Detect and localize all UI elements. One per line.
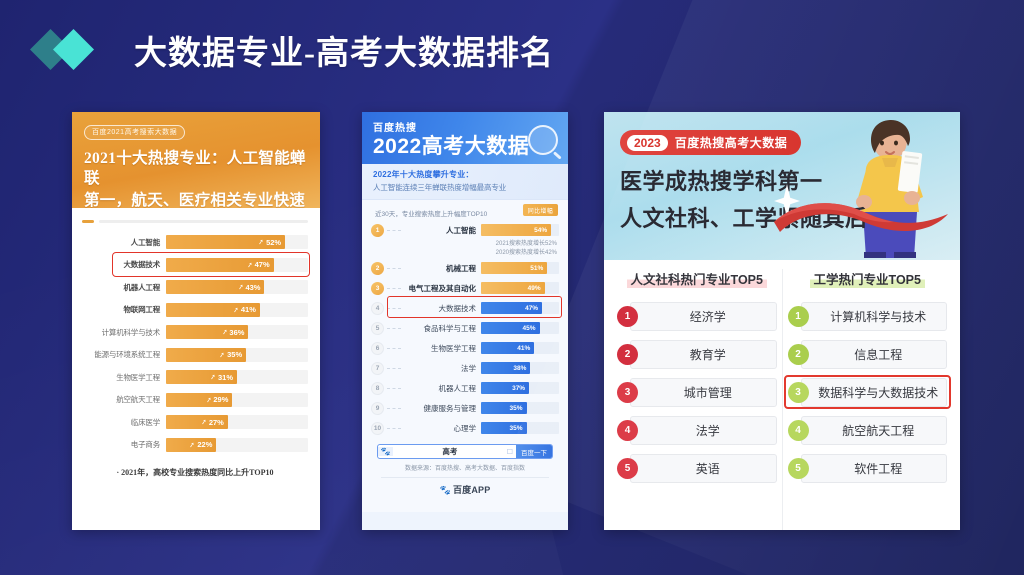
- bar-value: 37%: [512, 385, 525, 392]
- card3-column-humanities: 人文社科热门专业TOP5 1经济学2教育学3城市管理4法学5英语: [612, 269, 782, 530]
- bar-fill: ➚41%: [166, 303, 260, 317]
- bar-track: ➚22%: [166, 438, 308, 452]
- list-item[interactable]: 2信息工程: [788, 335, 948, 373]
- item-label: 机械工程: [404, 263, 481, 274]
- rank-badge: 2: [617, 344, 638, 365]
- card3-column-engineering-header: 工学热门专业TOP5: [810, 269, 925, 288]
- card2-source-note: 数据来源：百度热搜、高考大数据、百度指数: [371, 463, 559, 472]
- bar-value: 47%: [255, 260, 270, 269]
- card-baidu-2021[interactable]: 百度2021高考搜索大数据 2021十大热搜专业：人工智能蝉联 第一，航天、医疗…: [72, 112, 320, 530]
- card3-header: 2023 百度热搜高考大数据 医学成热搜学科第一 人文社科、工学紧随其后: [604, 112, 960, 260]
- item-label: 人工智能: [404, 225, 481, 236]
- bar-track: 41%: [481, 342, 559, 354]
- bar-label: 航空航天工程: [82, 394, 166, 405]
- card1-bar-list: 人工智能➚52%大数据技术➚47%机器人工程➚43%物联网工程➚41%计算机科学…: [82, 231, 308, 456]
- major-name[interactable]: 信息工程: [801, 340, 948, 369]
- rank-badge: 1: [617, 306, 638, 327]
- bar-fill: 35%: [481, 422, 527, 434]
- card2-chart-body: 近30天，专业搜索热度上升幅度TOP10 同比增幅 1人工智能54%2021搜索…: [362, 200, 568, 512]
- card2-subtitle-b: 人工智能连续三年蝉联热度增幅最高专业: [373, 182, 557, 193]
- card3-column-engineering: 工学热门专业TOP5 1计算机科学与技术2信息工程3数据科学与大数据技术4航空航…: [782, 269, 953, 530]
- rank-badge: 4: [788, 420, 809, 441]
- card3-engineering-list: 1计算机科学与技术2信息工程3数据科学与大数据技术4航空航天工程5软件工程: [788, 297, 948, 487]
- table-row: 航空航天工程➚29%: [82, 389, 308, 412]
- rank-badge: 2: [371, 262, 384, 275]
- bar-fill: ➚29%: [166, 393, 232, 407]
- bar-value: 52%: [266, 238, 281, 247]
- bar-track: 35%: [481, 422, 559, 434]
- bar-value: 22%: [197, 440, 212, 449]
- card2-search-box[interactable]: 🐾 高考 ☐ 百度一下: [377, 444, 553, 459]
- bar-track: ➚52%: [166, 235, 308, 249]
- rank-badge: 1: [371, 224, 384, 237]
- rank-badge: 5: [788, 458, 809, 479]
- card1-title-line1: 2021十大热搜专业：人工智能蝉联: [84, 149, 310, 189]
- dotted-leader: [387, 348, 401, 349]
- bar-label: 生物医学工程: [82, 372, 166, 383]
- bar-track: 45%: [481, 322, 559, 334]
- bar-value: 41%: [241, 305, 256, 314]
- bar-fill: 37%: [481, 382, 529, 394]
- bar-track: ➚36%: [166, 325, 308, 339]
- bar-track: 54%: [481, 224, 559, 236]
- bar-value: 35%: [509, 405, 522, 412]
- bar-value: 36%: [229, 328, 244, 337]
- list-item[interactable]: 1经济学: [617, 297, 777, 335]
- dotted-leader: [387, 230, 401, 231]
- card1-badge: 百度2021高考搜索大数据: [84, 125, 185, 140]
- trend-up-icon: ➚: [246, 260, 253, 269]
- bar-track: 38%: [481, 362, 559, 374]
- card2-app-text: 百度APP: [453, 485, 491, 495]
- table-row: 物联网工程➚41%: [82, 299, 308, 322]
- item-label: 生物医学工程: [404, 343, 481, 354]
- bar-label: 能源与环境系统工程: [82, 349, 166, 360]
- bar-track: 37%: [481, 382, 559, 394]
- bar-value: 41%: [517, 345, 530, 352]
- bar-track: ➚43%: [166, 280, 308, 294]
- rank-badge: 4: [617, 420, 638, 441]
- baidu-paw-icon-footer: 🐾: [440, 485, 451, 495]
- bar-fill: ➚35%: [166, 348, 246, 362]
- bar-fill: ➚36%: [166, 325, 248, 339]
- bar-value: 35%: [227, 350, 242, 359]
- trend-up-icon: ➚: [189, 440, 196, 449]
- dotted-leader: [387, 308, 401, 309]
- item-label: 法学: [404, 363, 481, 374]
- bar-track: ➚31%: [166, 370, 308, 384]
- bar-fill: 49%: [481, 282, 545, 294]
- card3-badge-text: 百度热搜高考大数据: [675, 134, 788, 151]
- slide-canvas: 大数据专业-高考大数据排名 百度2021高考搜索大数据 2021十大热搜专业：人…: [0, 0, 1024, 575]
- bar-label: 人工智能: [82, 237, 166, 248]
- bar-label: 物联网工程: [82, 304, 166, 315]
- bar-fill: ➚47%: [166, 258, 274, 272]
- rank-badge: 1: [788, 306, 809, 327]
- bar-track: 35%: [481, 402, 559, 414]
- item-label: 心理学: [404, 423, 481, 434]
- dotted-leader: [387, 288, 401, 289]
- bar-label: 临床医学: [82, 417, 166, 428]
- trend-up-icon: ➚: [232, 305, 239, 314]
- dotted-leader: [387, 268, 401, 269]
- list-item: 6生物医学工程41%: [371, 338, 559, 358]
- bar-label: 电子商务: [82, 439, 166, 450]
- bar-label: 计算机科学与技术: [82, 327, 166, 338]
- bar-track: ➚41%: [166, 303, 308, 317]
- trend-up-icon: ➚: [205, 395, 212, 404]
- list-item[interactable]: 1计算机科学与技术: [788, 297, 948, 335]
- card-baidu-2022[interactable]: 百度热搜 2022高考大数据 2022年十大热度攀升专业： 人工智能连续三年蝉联…: [362, 112, 568, 530]
- list-item: 5食品科学与工程45%: [371, 318, 559, 338]
- item-label: 大数据技术: [404, 303, 481, 314]
- bar-value: 45%: [522, 325, 535, 332]
- bar-fill: 54%: [481, 224, 551, 236]
- annotation-note: 2021搜索热度增长52%: [371, 240, 559, 249]
- card2-rank-list: 1人工智能54%2021搜索热度增长52%2020搜索热度增长42%2机械工程5…: [371, 220, 559, 438]
- list-item: 8机器人工程37%: [371, 378, 559, 398]
- bar-label: 机器人工程: [82, 282, 166, 293]
- table-row: 电子商务➚22%: [82, 434, 308, 457]
- item-label: 健康服务与管理: [404, 403, 481, 414]
- bar-value: 38%: [513, 365, 526, 372]
- table-row: 临床医学➚27%: [82, 411, 308, 434]
- bar-value: 47%: [525, 305, 538, 312]
- list-item: 3电气工程及其自动化49%: [371, 278, 559, 298]
- bar-value: 51%: [530, 265, 543, 272]
- list-item: 9健康服务与管理35%: [371, 398, 559, 418]
- card3-badge-year: 2023: [627, 135, 668, 151]
- camera-icon[interactable]: ☐: [507, 448, 516, 456]
- dotted-leader: [387, 428, 401, 429]
- magnifier-icon: [528, 125, 558, 155]
- rank-badge: 3: [788, 382, 809, 403]
- major-name[interactable]: 计算机科学与技术: [801, 302, 948, 331]
- card-baidu-2023[interactable]: 2023 百度热搜高考大数据 医学成热搜学科第一 人文社科、工学紧随其后: [604, 112, 960, 530]
- trend-up-icon: ➚: [218, 350, 225, 359]
- table-row: 机器人工程➚43%: [82, 276, 308, 299]
- major-name[interactable]: 英语: [630, 454, 777, 483]
- list-item: 7法学38%: [371, 358, 559, 378]
- trend-up-icon: ➚: [221, 328, 228, 337]
- bar-value: 29%: [213, 395, 228, 404]
- major-name[interactable]: 软件工程: [801, 454, 948, 483]
- list-item: 1人工智能54%: [371, 220, 559, 240]
- list-item: 10心理学35%: [371, 418, 559, 438]
- rank-badge: 5: [371, 322, 384, 335]
- card2-app-label: 🐾百度APP: [371, 483, 559, 496]
- card2-legend-tag: 同比增幅: [523, 204, 558, 216]
- dotted-leader: [387, 328, 401, 329]
- rank-badge: 8: [371, 382, 384, 395]
- annotation-note: 2020搜索热度增长42%: [371, 249, 559, 258]
- table-row: 能源与环境系统工程➚35%: [82, 344, 308, 367]
- rank-badge: 4: [371, 302, 384, 315]
- list-item: 4大数据技术47%: [371, 298, 559, 318]
- table-row: 生物医学工程➚31%: [82, 366, 308, 389]
- card2-header: 百度热搜 2022高考大数据: [362, 112, 568, 164]
- bar-track: ➚35%: [166, 348, 308, 362]
- cards-container: 百度2021高考搜索大数据 2021十大热搜专业：人工智能蝉联 第一，航天、医疗…: [0, 112, 1024, 532]
- card1-chart-body: 人工智能➚52%大数据技术➚47%机器人工程➚43%物联网工程➚41%计算机科学…: [72, 208, 320, 530]
- bar-fill: ➚31%: [166, 370, 237, 384]
- card3-badge: 2023 百度热搜高考大数据: [620, 130, 801, 155]
- rank-badge: 7: [371, 362, 384, 375]
- dotted-leader: [387, 408, 401, 409]
- diamond-light-icon: [53, 29, 94, 70]
- trend-up-icon: ➚: [200, 418, 207, 427]
- bar-track: ➚29%: [166, 393, 308, 407]
- table-row: 人工智能➚52%: [82, 231, 308, 254]
- item-label: 电气工程及其自动化: [404, 283, 481, 294]
- bar-fill: ➚43%: [166, 280, 264, 294]
- card2-subtitle-a: 2022年十大热度攀升专业：: [373, 169, 557, 180]
- table-row: 大数据技术➚47%: [82, 254, 308, 277]
- major-name[interactable]: 城市管理: [630, 378, 777, 407]
- bar-fill: 38%: [481, 362, 530, 374]
- bar-fill: 35%: [481, 402, 527, 414]
- card3-column-humanities-header: 人文社科热门专业TOP5: [627, 269, 767, 288]
- rank-badge: 5: [617, 458, 638, 479]
- card1-footer-note: · 2021年，高校专业搜索热度同比上升TOP10: [82, 467, 308, 478]
- diamond-bullet-icon: [36, 30, 110, 70]
- bar-fill: 41%: [481, 342, 534, 354]
- dotted-leader: [387, 388, 401, 389]
- bar-track: 47%: [481, 302, 559, 314]
- rank-badge: 10: [371, 422, 384, 435]
- bar-fill: 51%: [481, 262, 547, 274]
- slide-title-row: 大数据专业-高考大数据排名: [36, 26, 554, 74]
- list-item[interactable]: 4法学: [617, 411, 777, 449]
- search-button[interactable]: 百度一下: [516, 445, 552, 458]
- card3-humanities-list: 1经济学2教育学3城市管理4法学5英语: [617, 297, 777, 487]
- major-name[interactable]: 经济学: [630, 302, 777, 331]
- rank-badge: 3: [617, 382, 638, 403]
- bar-track: ➚27%: [166, 415, 308, 429]
- list-item[interactable]: 5软件工程: [788, 449, 948, 487]
- bar-fill: 47%: [481, 302, 542, 314]
- bar-fill: ➚22%: [166, 438, 216, 452]
- list-item[interactable]: 5英语: [617, 449, 777, 487]
- bar-value: 54%: [534, 227, 547, 234]
- table-row: 计算机科学与技术➚36%: [82, 321, 308, 344]
- bar-label: 大数据技术: [82, 259, 166, 270]
- rank-badge: 9: [371, 402, 384, 415]
- trend-up-icon: ➚: [209, 373, 216, 382]
- bar-fill: 45%: [481, 322, 540, 334]
- bar-value: 43%: [245, 283, 260, 292]
- list-item[interactable]: 3数据科学与大数据技术: [788, 373, 948, 411]
- item-label: 食品科学与工程: [404, 323, 481, 334]
- rank-badge: 3: [371, 282, 384, 295]
- dotted-leader: [387, 368, 401, 369]
- card2-divider: [381, 477, 549, 478]
- rank-badge: 6: [371, 342, 384, 355]
- baidu-paw-icon: 🐾: [378, 447, 393, 456]
- item-label: 机器人工程: [404, 383, 481, 394]
- bar-fill: ➚27%: [166, 415, 228, 429]
- card1-divider: [82, 220, 308, 223]
- bar-value: 49%: [528, 285, 541, 292]
- card3-columns: 人文社科热门专业TOP5 1经济学2教育学3城市管理4法学5英语 工学热门专业T…: [604, 260, 960, 530]
- search-input-value[interactable]: 高考: [393, 446, 507, 457]
- bar-fill: ➚52%: [166, 235, 285, 249]
- red-ribbon-icon: [772, 192, 952, 238]
- bar-value: 31%: [218, 373, 233, 382]
- card1-header: 百度2021高考搜索大数据 2021十大热搜专业：人工智能蝉联 第一，航天、医疗…: [72, 112, 320, 208]
- rank-badge: 2: [788, 344, 809, 365]
- bar-track: ➚47%: [166, 258, 308, 272]
- trend-up-icon: ➚: [237, 283, 244, 292]
- bar-value: 35%: [509, 425, 522, 432]
- page-title: 大数据专业-高考大数据排名: [134, 26, 554, 74]
- major-name[interactable]: 法学: [630, 416, 777, 445]
- list-item: 2机械工程51%: [371, 258, 559, 278]
- card2-subtitle: 2022年十大热度攀升专业： 人工智能连续三年蝉联热度增幅最高专业: [362, 164, 568, 200]
- major-name[interactable]: 数据科学与大数据技术: [801, 378, 948, 407]
- trend-up-icon: ➚: [257, 238, 264, 247]
- major-name[interactable]: 航空航天工程: [801, 416, 948, 445]
- list-item[interactable]: 2教育学: [617, 335, 777, 373]
- list-item[interactable]: 4航空航天工程: [788, 411, 948, 449]
- bar-value: 27%: [209, 418, 224, 427]
- bar-track: 51%: [481, 262, 559, 274]
- major-name[interactable]: 教育学: [630, 340, 777, 369]
- list-item[interactable]: 3城市管理: [617, 373, 777, 411]
- bar-track: 49%: [481, 282, 559, 294]
